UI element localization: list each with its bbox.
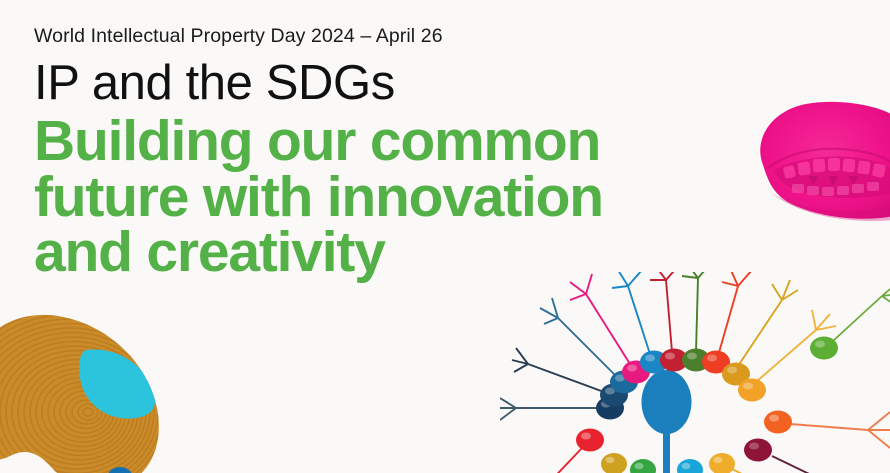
poster-tagline-line-2: future with innovation xyxy=(34,170,603,225)
poster-text-block: World Intellectual Property Day 2024 – A… xyxy=(34,26,603,280)
lips-upper-line xyxy=(768,149,890,168)
sdg-seed-gold-low xyxy=(709,453,768,473)
poster-title: IP and the SDGs xyxy=(34,58,603,110)
sdg-seed-maroon xyxy=(744,439,830,473)
sdg-seed-slate xyxy=(500,397,624,421)
thumbprint-body xyxy=(0,315,159,473)
sdg-seed-orange xyxy=(764,411,890,449)
lips-teeth xyxy=(774,157,890,199)
sdg-seed-red-low xyxy=(544,429,604,473)
sdg-seed-cerulean xyxy=(612,272,668,374)
sdg-seed-sky xyxy=(677,459,703,473)
poster-tagline-line-3: and creativity xyxy=(34,225,603,280)
sdg-seed-crimson xyxy=(650,272,688,372)
dandelion-seedhead-illustration xyxy=(500,272,890,473)
sdg-seed-navy xyxy=(512,348,628,407)
orange-thumbprint-illustration xyxy=(0,306,228,473)
magenta-lips-illustration xyxy=(744,96,890,221)
sdg-seed-vermilion xyxy=(702,272,752,374)
sdg-seed-magenta xyxy=(570,274,650,384)
lips-body xyxy=(760,102,890,219)
lips-lower-shade xyxy=(770,192,890,221)
sdg-seed-amber xyxy=(738,310,836,402)
sdg-seed-mustard xyxy=(596,453,627,473)
poster-tagline: Building our common future with innovati… xyxy=(34,114,603,280)
poster-eyebrow: World Intellectual Property Day 2024 – A… xyxy=(34,26,603,47)
poster-tagline-line-1: Building our common xyxy=(34,114,603,169)
sdg-seed-green-low xyxy=(630,459,656,473)
floating-green-seed xyxy=(810,284,890,360)
thumbprint-ridge-rings xyxy=(0,310,182,473)
sdg-seed-steel-blue xyxy=(540,298,638,394)
sdg-seed-goldenrod xyxy=(722,280,798,386)
sdg-seed-forest-green xyxy=(682,272,712,372)
wipo-world-ip-day-poster: World Intellectual Property Day 2024 – A… xyxy=(0,0,890,473)
thumbprint-cyan-highlight xyxy=(79,349,155,418)
dandelion-stalk xyxy=(642,370,692,473)
blue-seed-dot xyxy=(107,467,133,473)
